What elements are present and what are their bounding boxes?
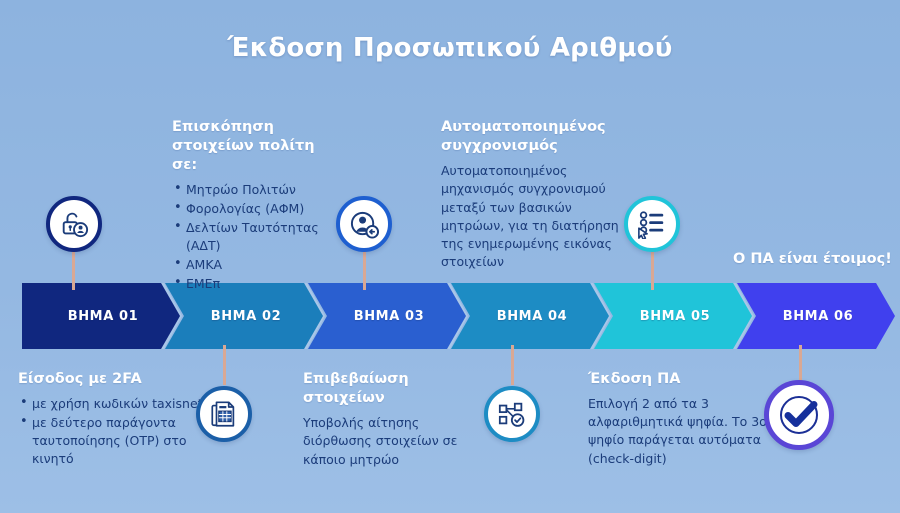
badge-step-3[interactable] xyxy=(336,196,392,252)
lock-user-icon xyxy=(59,209,89,239)
list-item: Δελτίων Ταυτότητας (ΑΔΤ) xyxy=(172,219,342,255)
text-block-step-3: Επιβεβαίωση στοιχείων Υποβολής αίτησης δ… xyxy=(303,370,471,469)
step-label: ΒΗΜΑ 03 xyxy=(354,309,425,324)
block-body: Αυτοματοποιημένος μηχανισμός συγχρονισμο… xyxy=(441,162,623,271)
badge-step-2[interactable] xyxy=(196,386,252,442)
list-item: ΑΜΚΑ xyxy=(172,256,342,274)
block-bullet-list: Μητρώο Πολιτών Φορολογίας (ΑΦΜ) Δελτίων … xyxy=(172,181,342,293)
connector-step3 xyxy=(363,250,366,290)
badge-step-4[interactable] xyxy=(484,386,540,442)
checklist-cursor-icon xyxy=(637,209,667,239)
check-circle-icon xyxy=(777,393,821,437)
connector-step6 xyxy=(799,345,802,383)
step-label: ΒΗΜΑ 02 xyxy=(211,309,282,324)
step-band: ΒΗΜΑ 01 ΒΗΜΑ 02 ΒΗΜΑ 03 ΒΗΜΑ 04 ΒΗΜΑ 05 … xyxy=(22,283,878,349)
step-label: ΒΗΜΑ 01 xyxy=(68,309,139,324)
block-heading: Είσοδος με 2FA xyxy=(18,370,208,389)
infographic-root: Έκδοση Προσωπικού Αριθμού ΒΗΜΑ 01 ΒΗΜΑ 0… xyxy=(0,0,900,513)
connector-step1 xyxy=(72,250,75,290)
block-heading: Αυτοματοποιημένος συγχρονισμός xyxy=(441,118,623,156)
text-block-step-1: Είσοδος με 2FA με χρήση κωδικών taxisnet… xyxy=(18,370,208,469)
step-chevron-4[interactable]: ΒΗΜΑ 04 xyxy=(451,283,609,349)
list-item: με δεύτερο παράγοντα ταυτοποίησης (OTP) … xyxy=(18,414,208,468)
connector-step4 xyxy=(511,345,514,385)
badge-step-6[interactable] xyxy=(764,380,834,450)
text-block-step-4: Αυτοματοποιημένος συγχρονισμός Αυτοματοπ… xyxy=(441,118,623,271)
documents-icon xyxy=(209,399,239,429)
step-label: ΒΗΜΑ 06 xyxy=(783,309,854,324)
text-block-step-5: Έκδοση ΠΑ Επιλογή 2 από τα 3 αλφαριθμητι… xyxy=(588,370,768,468)
step-chevron-5[interactable]: ΒΗΜΑ 05 xyxy=(594,283,752,349)
block-bullet-list: με χρήση κωδικών taxisnet με δεύτερο παρ… xyxy=(18,395,208,468)
step-chevron-1[interactable]: ΒΗΜΑ 01 xyxy=(22,283,180,349)
list-item: με χρήση κωδικών taxisnet xyxy=(18,395,208,413)
network-check-icon xyxy=(497,399,527,429)
connector-step5 xyxy=(651,250,654,290)
block-body: Υποβολής αίτησης διόρθωσης στοιχείων σε … xyxy=(303,414,471,468)
page-title: Έκδοση Προσωπικού Αριθμού xyxy=(0,33,900,63)
list-item: ΕΜΕπ xyxy=(172,275,342,293)
block-heading: Επισκόπηση στοιχείων πολίτη σε: xyxy=(172,118,342,175)
ready-label: Ο ΠΑ είναι έτοιμος! xyxy=(733,251,892,267)
step-chevron-6[interactable]: ΒΗΜΑ 06 xyxy=(737,283,895,349)
block-heading: Επιβεβαίωση στοιχείων xyxy=(303,370,471,408)
connector-step2 xyxy=(223,345,226,385)
step-label: ΒΗΜΑ 04 xyxy=(497,309,568,324)
text-block-step-2: Επισκόπηση στοιχείων πολίτη σε: Μητρώο Π… xyxy=(172,118,342,294)
list-item: Μητρώο Πολιτών xyxy=(172,181,342,199)
user-edit-icon xyxy=(349,209,380,240)
badge-step-1[interactable] xyxy=(46,196,102,252)
list-item: Φορολογίας (ΑΦΜ) xyxy=(172,200,342,218)
block-heading: Έκδοση ΠΑ xyxy=(588,370,768,389)
block-body: Επιλογή 2 από τα 3 αλφαριθμητικά ψηφία. … xyxy=(588,395,768,468)
step-label: ΒΗΜΑ 05 xyxy=(640,309,711,324)
badge-step-5[interactable] xyxy=(624,196,680,252)
